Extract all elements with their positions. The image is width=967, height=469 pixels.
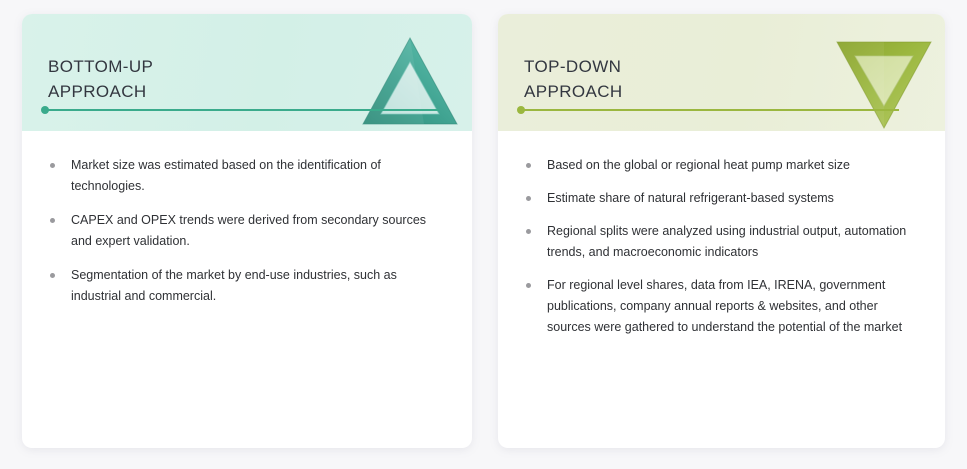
card-header-bottom-up: BOTTOM-UP APPROACH — [22, 14, 472, 131]
accent-rule-bottom-up — [41, 105, 439, 115]
card-header-top-down: TOP-DOWN APPROACH — [498, 14, 945, 131]
approach-comparison-board: BOTTOM-UP APPROACH — [0, 0, 967, 469]
list-item: CAPEX and OPEX trends were derived from … — [44, 210, 450, 252]
card-top-down: TOP-DOWN APPROACH — [498, 14, 945, 448]
list-item: Market size was estimated based on the i… — [44, 155, 450, 197]
accent-line — [521, 109, 899, 111]
card-title-bottom-up: BOTTOM-UP APPROACH — [48, 54, 153, 104]
triangle-down-icon — [835, 38, 933, 130]
list-item: Estimate share of natural refrigerant-ba… — [520, 188, 923, 209]
list-item: For regional level shares, data from IEA… — [520, 275, 923, 338]
bullet-list-bottom-up: Market size was estimated based on the i… — [44, 155, 450, 307]
list-item: Based on the global or regional heat pum… — [520, 155, 923, 176]
bullet-list-top-down: Based on the global or regional heat pum… — [520, 155, 923, 338]
list-item: Regional splits were analyzed using indu… — [520, 221, 923, 263]
accent-line — [45, 109, 439, 111]
list-item: Segmentation of the market by end-use in… — [44, 265, 450, 307]
card-bottom-up: BOTTOM-UP APPROACH — [22, 14, 472, 448]
card-body-top-down: Based on the global or regional heat pum… — [498, 131, 945, 338]
accent-rule-top-down — [517, 105, 899, 115]
card-title-top-down: TOP-DOWN APPROACH — [524, 54, 623, 104]
card-body-bottom-up: Market size was estimated based on the i… — [22, 131, 472, 307]
